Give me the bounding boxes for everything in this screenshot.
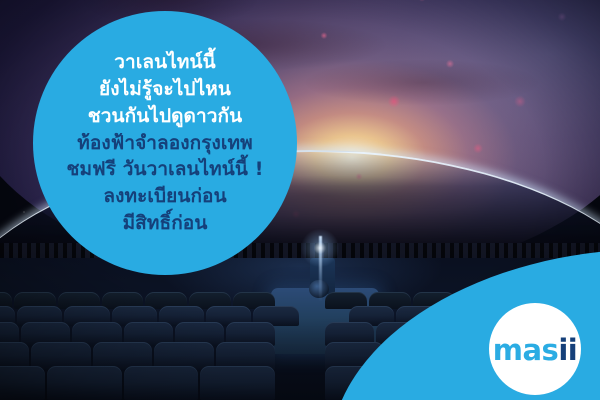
masii-logo-badge[interactable]: masii: [489, 303, 581, 395]
headline-circle: วาเลนไทน์นี้ ยังไม่รู้จะไปไหน ชวนกันไปดู…: [33, 11, 297, 275]
masii-wordmark-primary: mas: [493, 333, 559, 367]
headline-line-1: วาเลนไทน์นี้: [114, 49, 215, 76]
headline-line-6: ลงทะเบียนก่อน: [103, 183, 226, 210]
masii-wordmark-secondary: ii: [558, 333, 577, 367]
projector-lens-flare: [300, 228, 340, 268]
headline-line-2: ยังไม่รู้จะไปไหน: [99, 76, 231, 103]
headline-line-4: ท้องฟ้าจำลองกรุงเทพ: [77, 130, 253, 157]
headline-line-5: ชมฟรี วันวาเลนไทน์นี้ !: [67, 156, 264, 183]
promotional-poster: วาเลนไทน์นี้ ยังไม่รู้จะไปไหน ชวนกันไปดู…: [0, 0, 600, 400]
headline-line-3: ชวนกันไปดูดาวกัน: [88, 103, 242, 130]
headline-line-7: มีสิทธิ์ก่อน: [123, 210, 208, 237]
masii-wordmark: masii: [493, 336, 577, 365]
